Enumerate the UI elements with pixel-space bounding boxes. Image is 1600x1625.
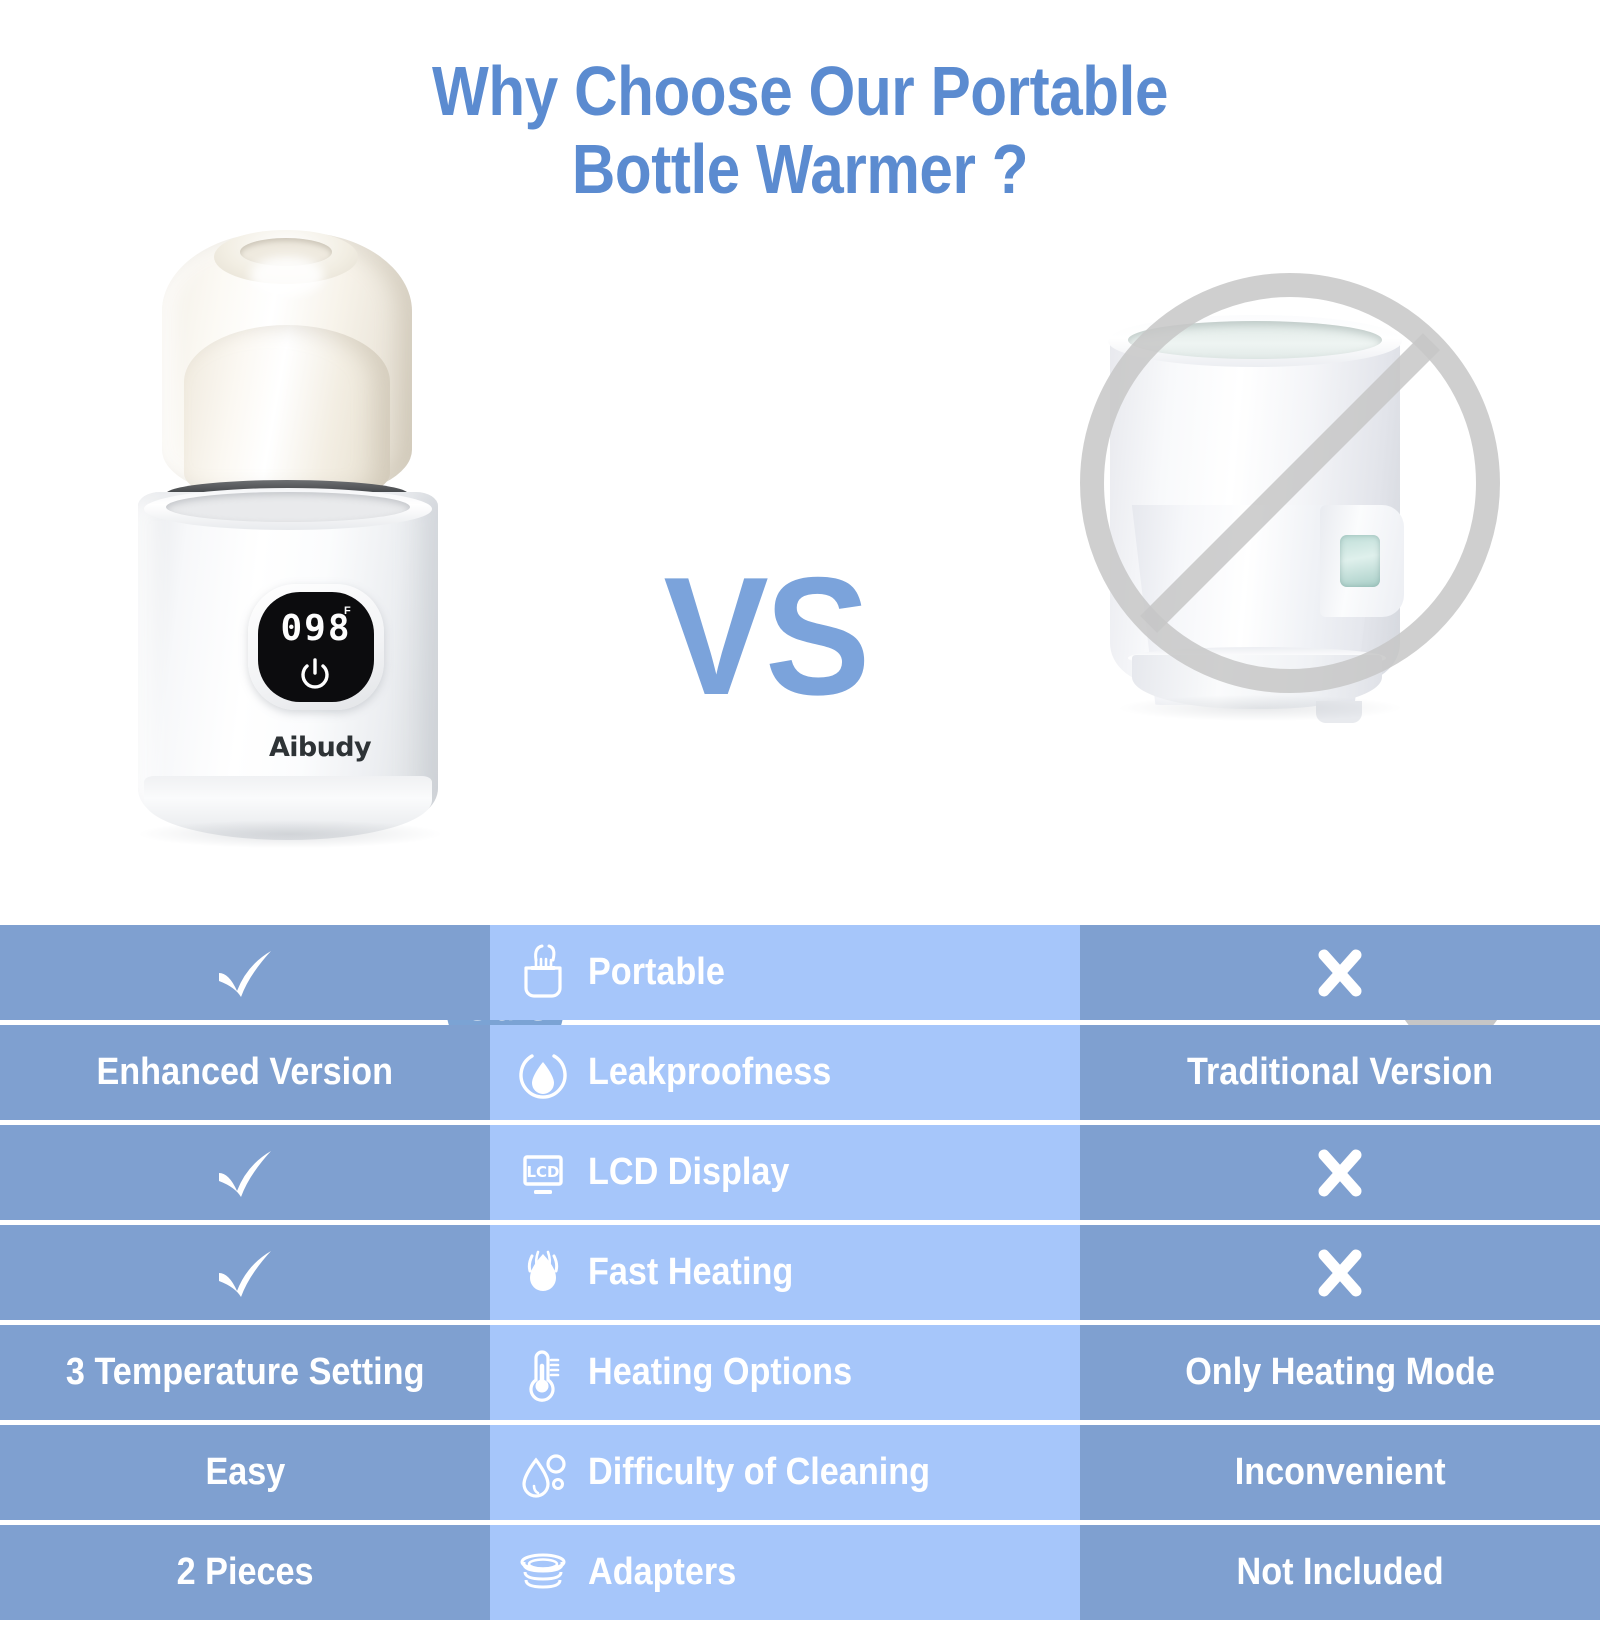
stacked-adapters-icon (512, 1542, 574, 1604)
ours-value: 2 Pieces (177, 1551, 314, 1594)
warmer-drop-shadow (140, 820, 440, 848)
table-row: Portable (0, 925, 1600, 1020)
other-warmer-drop-shadow (1120, 695, 1400, 721)
feature-label: LCD Display (588, 1151, 789, 1194)
feature-label: Adapters (588, 1551, 736, 1594)
row-others-cell (1080, 1125, 1600, 1220)
cross-icon (1304, 1143, 1376, 1203)
lcd-screen-icon: LCD (512, 1142, 574, 1204)
lcd-temperature-unit: F (344, 605, 351, 617)
cross-icon (1304, 1243, 1376, 1303)
check-icon (209, 1143, 281, 1203)
bottle-highlight (250, 256, 324, 296)
check-icon (209, 943, 281, 1003)
table-row: Easy Difficulty of Cleaning Inconvenient (0, 1425, 1600, 1520)
feature-label: Portable (588, 951, 725, 994)
milk-bottle-body (184, 325, 390, 493)
row-others-cell: Traditional Version (1080, 1025, 1600, 1120)
others-value: Not Included (1236, 1551, 1443, 1594)
feature-label: Fast Heating (588, 1251, 793, 1294)
row-ours-cell: 3 Temperature Setting (0, 1325, 490, 1420)
cross-icon (1304, 943, 1376, 1003)
row-feature-cell: LCD LCD Display (490, 1125, 1080, 1220)
row-feature-cell: Difficulty of Cleaning (490, 1425, 1080, 1520)
row-ours-cell: 2 Pieces (0, 1525, 490, 1620)
ours-value: Enhanced Version (97, 1051, 394, 1094)
row-others-cell: Inconvenient (1080, 1425, 1600, 1520)
droplet-bubbles-icon (512, 1442, 574, 1504)
hero-comparison: 098 F Aibudy VS Ours Others (0, 215, 1600, 905)
row-ours-cell (0, 1225, 490, 1320)
row-others-cell: Only Heating Mode (1080, 1325, 1600, 1420)
ours-value: 3 Temperature Setting (66, 1351, 425, 1394)
bottle-in-hand-icon (512, 942, 574, 1004)
vs-label: VS (648, 540, 883, 733)
power-icon[interactable] (296, 656, 334, 694)
row-feature-cell: Portable (490, 925, 1080, 1020)
row-others-cell (1080, 1225, 1600, 1320)
page-title-line2: Bottle Warmer ? (112, 130, 1488, 208)
table-row: LCD LCD Display (0, 1125, 1600, 1220)
water-drop-circle-icon (512, 1042, 574, 1104)
lcd-temperature-value: 098 (258, 606, 374, 652)
table-row: 2 Pieces Adapters Not Included (0, 1525, 1600, 1620)
others-value: Traditional Version (1187, 1051, 1493, 1094)
ours-value: Easy (205, 1451, 285, 1494)
feature-label: Heating Options (588, 1351, 852, 1394)
table-row: Enhanced Version Leakproofness Tradition… (0, 1025, 1600, 1120)
others-value: Only Heating Mode (1185, 1351, 1495, 1394)
flame-heat-icon (512, 1242, 574, 1304)
no-entry-slash-icon (1080, 273, 1500, 693)
thermometer-icon (512, 1342, 574, 1404)
row-ours-cell: Enhanced Version (0, 1025, 490, 1120)
svg-text:LCD: LCD (526, 1163, 559, 1181)
others-product-image (1020, 255, 1540, 875)
page-title-line1: Why Choose Our Portable (432, 52, 1168, 130)
row-others-cell (1080, 925, 1600, 1020)
row-feature-cell: Adapters (490, 1525, 1080, 1620)
page-title: Why Choose Our Portable Bottle Warmer ? (112, 52, 1488, 209)
comparison-table: Portable Enhanced Version Leakproofness (0, 925, 1600, 1625)
warmer-base-cavity (166, 492, 410, 522)
ours-product-image: 098 F Aibudy (100, 220, 570, 890)
feature-label: Difficulty of Cleaning (588, 1451, 930, 1494)
row-feature-cell: Fast Heating (490, 1225, 1080, 1320)
row-ours-cell (0, 1125, 490, 1220)
check-icon (209, 1243, 281, 1303)
table-row: Fast Heating (0, 1225, 1600, 1320)
row-feature-cell: Heating Options (490, 1325, 1080, 1420)
row-ours-cell: Easy (0, 1425, 490, 1520)
feature-label: Leakproofness (588, 1051, 831, 1094)
row-feature-cell: Leakproofness (490, 1025, 1080, 1120)
row-ours-cell (0, 925, 490, 1020)
row-others-cell: Not Included (1080, 1525, 1600, 1620)
others-value: Inconvenient (1235, 1451, 1446, 1494)
table-row: 3 Temperature Setting Heating Options On… (0, 1325, 1600, 1420)
brand-logo: Aibudy (220, 732, 420, 763)
